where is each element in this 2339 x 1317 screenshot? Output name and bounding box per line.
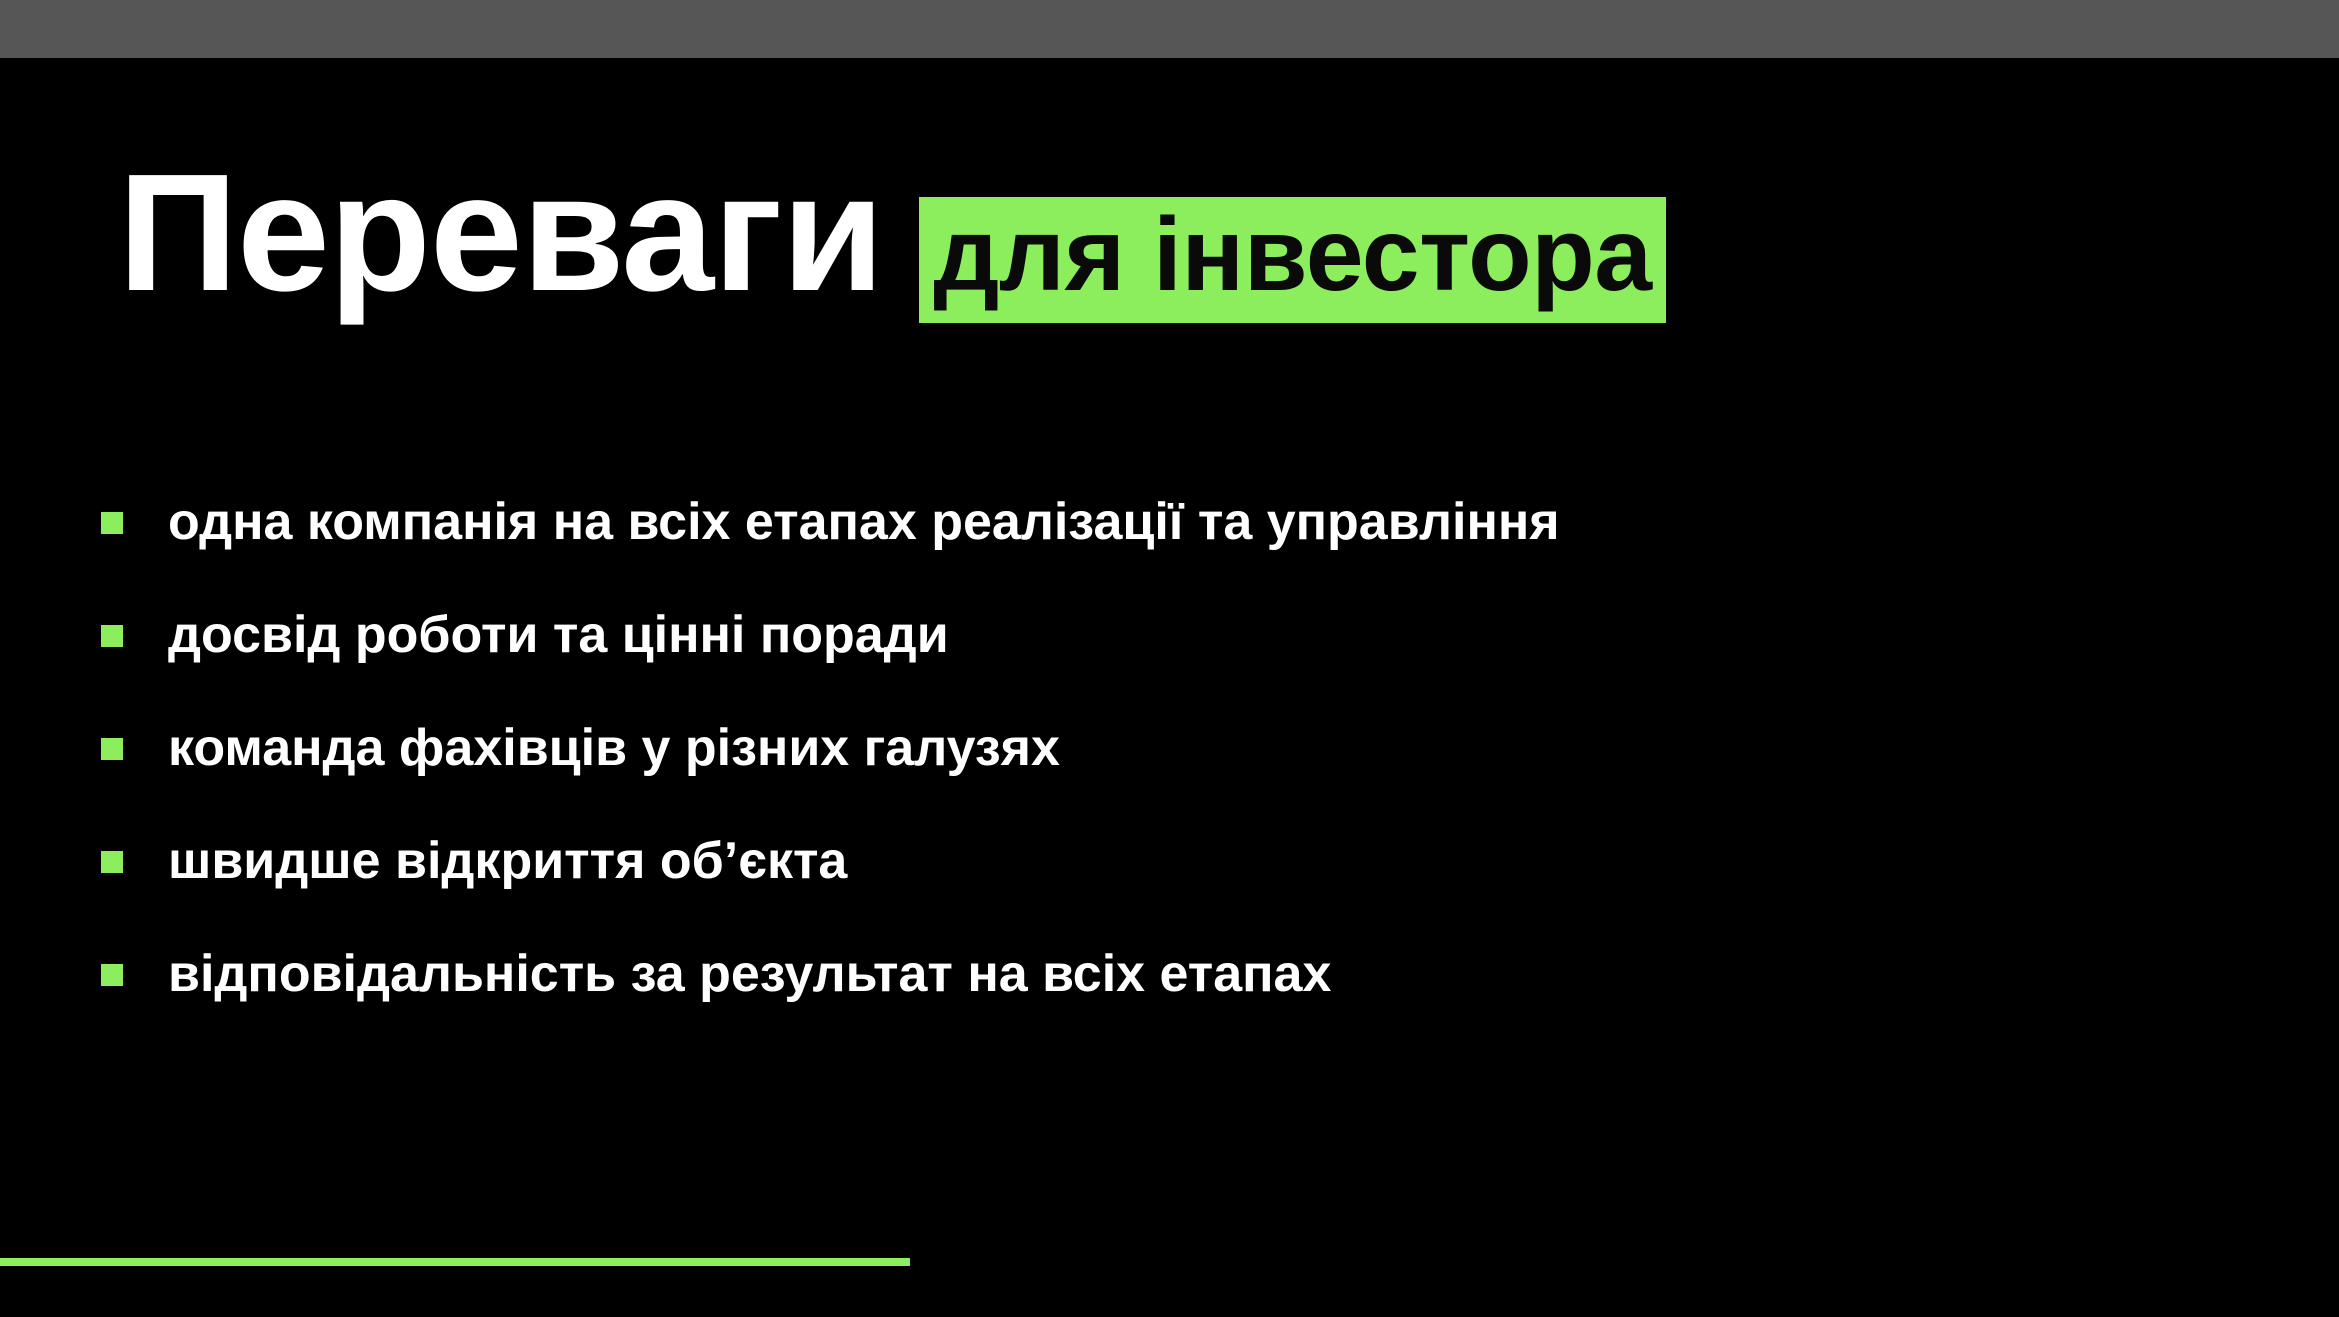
list-item-label: відповідальність за результат на всіх ет…: [168, 947, 1331, 1002]
square-bullet-icon: [101, 625, 123, 647]
square-bullet-icon: [101, 964, 123, 986]
square-bullet-icon: [101, 512, 123, 534]
list-item: досвід роботи та цінні поради: [101, 579, 2201, 692]
list-item: команда фахівців у різних галузях: [101, 692, 2201, 805]
top-chrome-bar: [0, 0, 2339, 58]
slide-canvas: Переваги для інвестора одна компанія на …: [0, 0, 2339, 1317]
list-item-label: швидше відкриття об’єкта: [168, 834, 847, 889]
list-item-label: досвід роботи та цінні поради: [168, 608, 949, 663]
footer-accent-rule: [0, 1258, 910, 1266]
square-bullet-icon: [101, 738, 123, 760]
list-item-label: команда фахівців у різних галузях: [168, 721, 1060, 776]
list-item: одна компанія на всіх етапах реалізації …: [101, 466, 2201, 579]
square-bullet-icon: [101, 851, 123, 873]
advantages-list: одна компанія на всіх етапах реалізації …: [101, 466, 2201, 1031]
list-item: швидше відкриття об’єкта: [101, 805, 2201, 918]
list-item-label: одна компанія на всіх етапах реалізації …: [168, 495, 1560, 550]
page-title-accent: для інвестора: [933, 203, 1651, 307]
page-title-accent-highlight: для інвестора: [919, 197, 1665, 323]
list-item: відповідальність за результат на всіх ет…: [101, 918, 2201, 1031]
slide-title: Переваги для інвестора: [118, 150, 1666, 323]
page-title-main: Переваги: [118, 150, 883, 317]
